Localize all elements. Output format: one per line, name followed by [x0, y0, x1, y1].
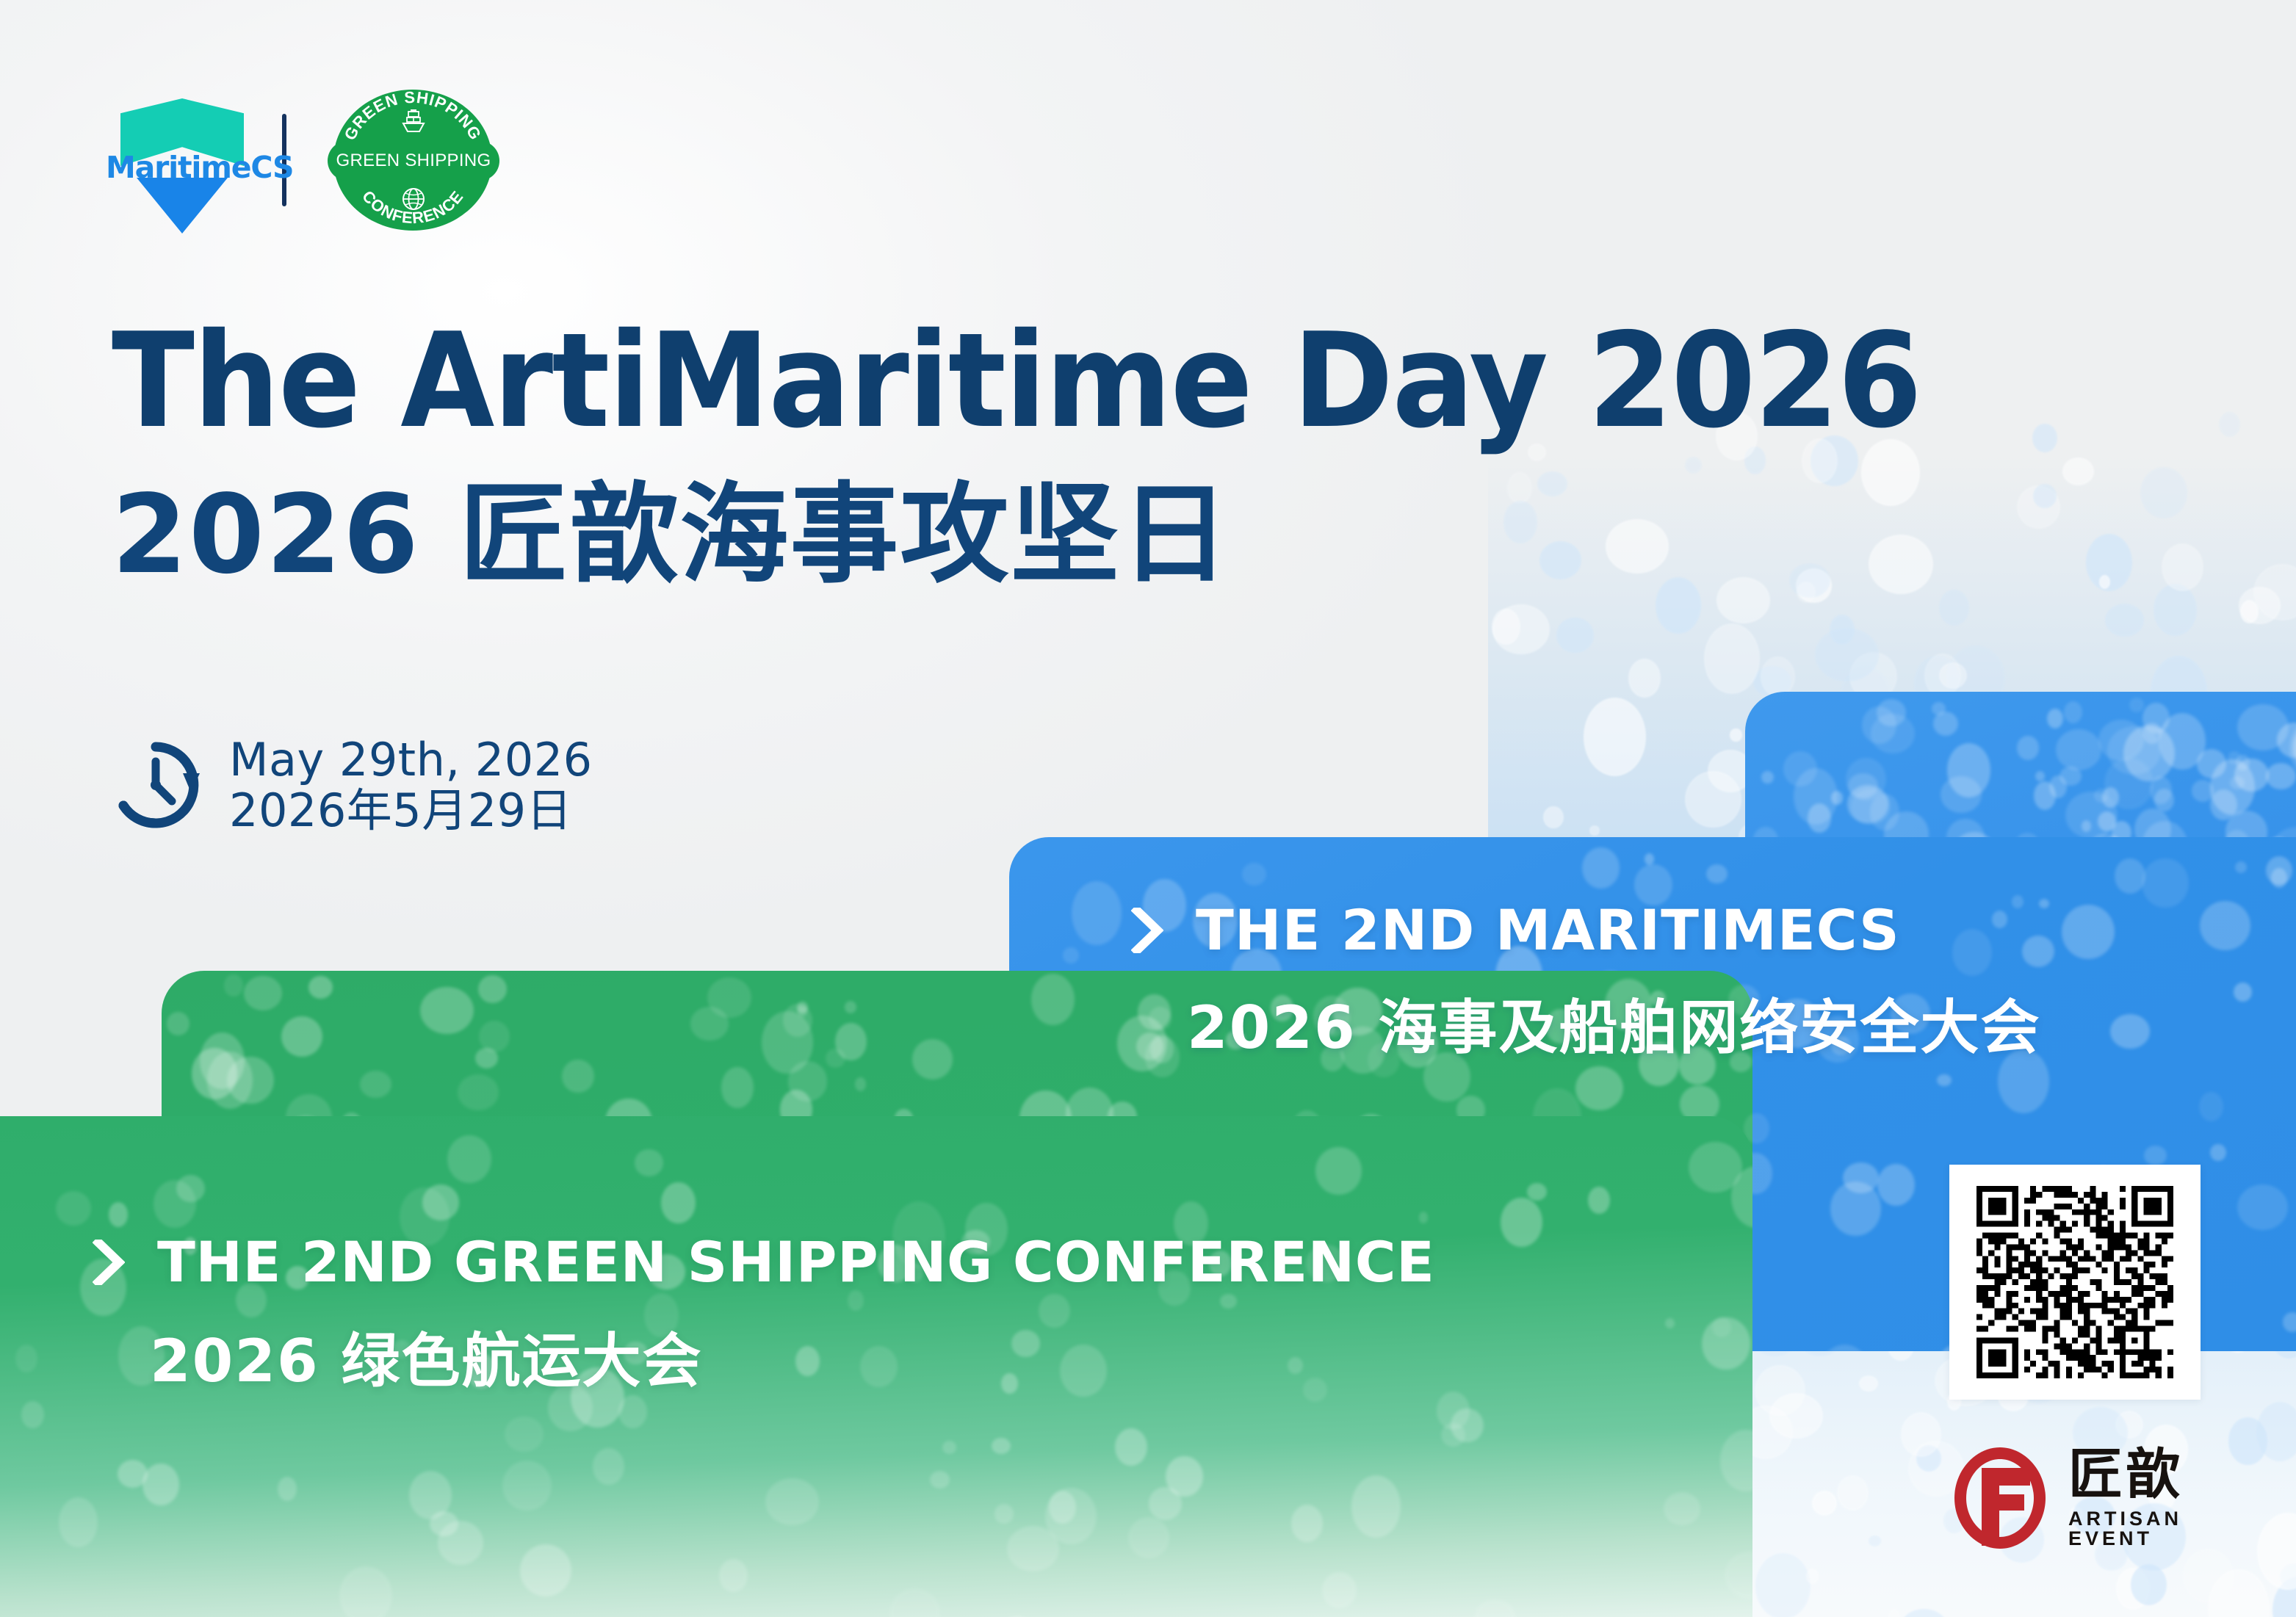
title-english: The ArtiMaritime Day 2026 — [112, 316, 1921, 446]
ship-icon — [400, 109, 427, 135]
maritimecs-wordmark: MaritimeCS — [106, 150, 261, 185]
green-panel-subheading: 2026 绿色航运大会 — [150, 1314, 1708, 1399]
title-chinese: 2026 匠歆海事攻坚日 — [112, 480, 1230, 589]
badge-banner-label: GREEN SHIPPING — [336, 151, 491, 171]
event-date-block: May 29th, 2026 2026年5月29日 — [107, 734, 593, 836]
event-date-english: May 29th, 2026 — [229, 734, 593, 785]
artisan-english: ARTISAN EVENT — [2068, 1509, 2256, 1549]
event-date-chinese: 2026年5月29日 — [229, 785, 593, 836]
badge-banner: GREEN SHIPPING — [328, 141, 499, 181]
qr-code[interactable] — [1976, 1186, 2173, 1378]
chevron-right-icon — [1131, 908, 1163, 953]
artisan-mark-icon — [1948, 1443, 2052, 1553]
artisan-event-logo: 匠歆 ARTISAN EVENT — [1948, 1432, 2256, 1564]
clock-icon — [107, 737, 204, 833]
artisan-chinese: 匠歆 — [2068, 1447, 2256, 1502]
blue-panel-heading-row: THE 2ND MARITIMECS — [1131, 897, 2277, 963]
header-logo-row: MaritimeCS GREEN SHIPPING CONFERENCE — [109, 87, 498, 234]
green-shipping-conference-badge: GREEN SHIPPING CONFERENCE — [329, 87, 498, 234]
qr-code-card[interactable] — [1949, 1165, 2201, 1400]
green-panel-heading: THE 2ND GREEN SHIPPING CONFERENCE — [157, 1229, 1434, 1295]
blue-panel-subheading: 2026 海事及船舶网络安全大会 — [1187, 980, 2277, 1066]
green-panel-content: THE 2ND GREEN SHIPPING CONFERENCE 2026 绿… — [93, 1229, 1708, 1399]
blue-panel-heading: THE 2ND MARITIMECS — [1196, 897, 1900, 963]
blue-panel-content: THE 2ND MARITIMECS 2026 海事及船舶网络安全大会 — [1131, 897, 2277, 1066]
globe-icon — [401, 187, 426, 211]
poster-canvas: MaritimeCS GREEN SHIPPING CONFERENCE — [0, 0, 2296, 1617]
artisan-text-block: 匠歆 ARTISAN EVENT — [2068, 1447, 2256, 1549]
shield-bottom-shape — [137, 178, 228, 234]
maritimecs-logo: MaritimeCS — [109, 87, 256, 234]
green-panel-heading-row: THE 2ND GREEN SHIPPING CONFERENCE — [93, 1229, 1708, 1295]
event-date-text: May 29th, 2026 2026年5月29日 — [229, 734, 593, 836]
chevron-right-icon — [93, 1240, 125, 1285]
